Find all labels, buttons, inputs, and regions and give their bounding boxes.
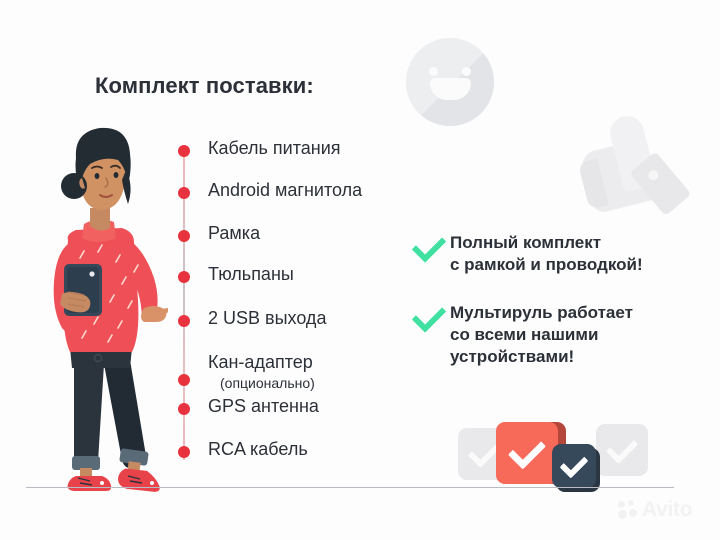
bullet-dot [178, 315, 190, 327]
list-item-label: Кабель питания [208, 138, 341, 159]
checkbox-card-gray-right [596, 424, 648, 476]
feature-text: Полный комплект с рамкой и проводкой! [450, 232, 643, 276]
list-item-label: Кан-адаптер [208, 352, 313, 373]
promo-image: Комплект поставки: Кабель питания Androi… [0, 0, 720, 540]
bullet-dot [178, 403, 190, 415]
green-check-icon [412, 298, 447, 333]
feature-text: Мультируль работает со всеми нашими устр… [450, 302, 633, 368]
avito-logo-icon [618, 500, 638, 520]
smiley-face-icon [406, 38, 494, 126]
checkbox-cards-icon [458, 414, 648, 492]
feature-line-2: со всеми нашими [450, 325, 598, 344]
page-title: Комплект поставки: [95, 73, 314, 99]
ground-line [26, 487, 674, 488]
checkbox-card-dark [552, 444, 596, 488]
bullet-dot [178, 230, 190, 242]
bullet-dot [178, 446, 190, 458]
thumbs-up-icon [567, 99, 712, 230]
list-item-label: GPS антенна [208, 396, 319, 417]
bullet-dot [178, 187, 190, 199]
bullet-dot [178, 145, 190, 157]
watermark-text: Avito [642, 498, 692, 522]
woman-pointing-illustration [18, 112, 168, 492]
feature-line-2: с рамкой и проводкой! [450, 255, 643, 274]
bullet-dot [178, 374, 190, 386]
feature-line-3: устройствами! [450, 347, 574, 366]
list-item-label: Тюльпаны [208, 264, 294, 285]
green-check-icon [412, 228, 447, 263]
feature-line-1: Мультируль работает [450, 303, 633, 322]
list-item-label: RCA кабель [208, 439, 308, 460]
checkbox-card-red [496, 422, 558, 484]
list-item-sublabel: (опционально) [220, 375, 315, 391]
feature-line-1: Полный комплект [450, 233, 601, 252]
list-item-label: Рамка [208, 223, 260, 244]
list-item-label: Android магнитола [208, 180, 362, 201]
avito-watermark: Avito [618, 498, 692, 522]
list-item-label: 2 USB выхода [208, 308, 326, 329]
bullet-dot [178, 271, 190, 283]
